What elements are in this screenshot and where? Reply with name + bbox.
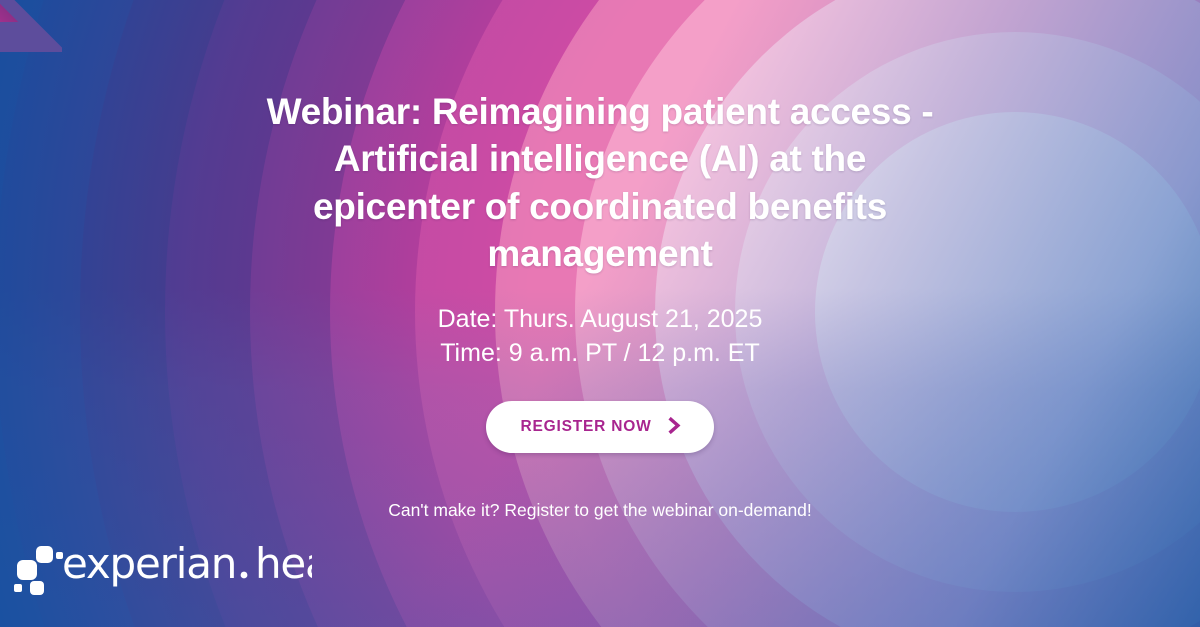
- register-now-label: REGISTER NOW: [520, 418, 651, 436]
- register-now-button[interactable]: REGISTER NOW: [486, 401, 713, 453]
- svg-text:experian: experian: [62, 539, 236, 588]
- experian-health-wordmark: experian health: [62, 537, 312, 598]
- banner-content: Webinar: Reimagining patient access - Ar…: [0, 0, 1200, 627]
- chevron-right-icon: [665, 416, 684, 438]
- on-demand-note: Can't make it? Register to get the webin…: [388, 500, 812, 521]
- event-date: Date: Thurs. August 21, 2025: [438, 303, 763, 336]
- page-title: Webinar: Reimagining patient access - Ar…: [250, 88, 950, 277]
- event-time: Time: 9 a.m. PT / 12 p.m. ET: [438, 337, 763, 370]
- webinar-promo-banner: Webinar: Reimagining patient access - Ar…: [0, 0, 1200, 627]
- event-datetime: Date: Thurs. August 21, 2025 Time: 9 a.m…: [438, 303, 763, 370]
- experian-dots-icon: [14, 542, 60, 594]
- svg-text:health: health: [255, 539, 312, 588]
- experian-health-logo: experian health: [14, 537, 312, 598]
- cta-container: REGISTER NOW: [486, 401, 713, 453]
